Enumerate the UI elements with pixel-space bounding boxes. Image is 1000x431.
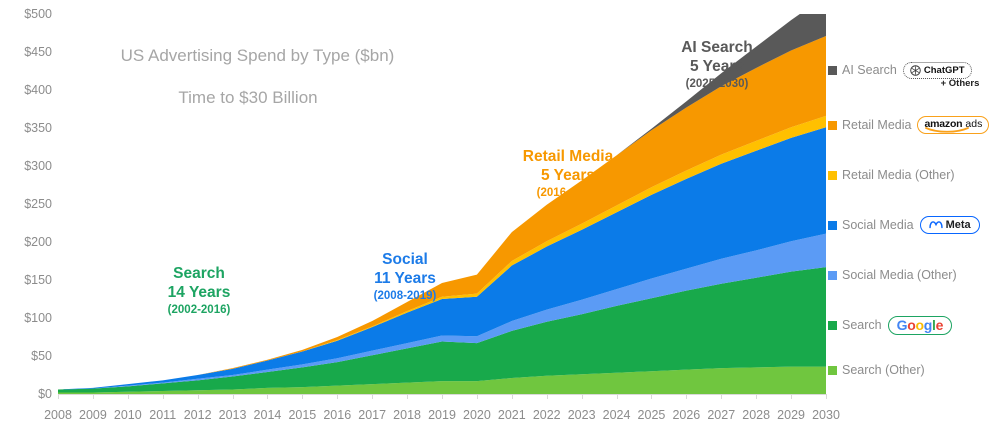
- chatgpt-wordmark: ChatGPT: [924, 65, 965, 76]
- annotation-ai-search-years: 5 Years: [642, 57, 792, 76]
- y-axis-tick: $300: [0, 160, 52, 172]
- x-axis-tick-mark: [93, 394, 94, 399]
- legend-item-social-media[interactable]: Social MediaMeta: [828, 215, 980, 235]
- chart-page: US Advertising Spend by Type ($bn) Time …: [0, 0, 1000, 431]
- y-axis-tick: $0: [0, 388, 52, 400]
- x-axis-tick-mark: [128, 394, 129, 399]
- y-axis-tick: $350: [0, 122, 52, 134]
- legend-item-label: Retail Media: [842, 118, 911, 132]
- y-axis-tick: $100: [0, 312, 52, 324]
- x-axis-tick-mark: [756, 394, 757, 399]
- x-axis-tick-mark: [477, 394, 478, 399]
- x-axis-tick-mark: [407, 394, 408, 399]
- legend-swatch-icon: [828, 271, 837, 280]
- x-axis-tick-mark: [302, 394, 303, 399]
- x-axis-tick-mark: [198, 394, 199, 399]
- annotation-ai-search: AI Search 5 Years (2025-2030): [642, 38, 792, 92]
- x-axis-tick-mark: [826, 394, 827, 399]
- x-axis-tick-mark: [791, 394, 792, 399]
- annotation-social-name: Social: [345, 250, 465, 269]
- x-axis-tick-mark: [617, 394, 618, 399]
- badge-amazon-ads: amazonads: [917, 116, 989, 134]
- x-axis-tick-mark: [442, 394, 443, 399]
- openai-logo-icon: [910, 65, 921, 76]
- y-axis-tick: $200: [0, 236, 52, 248]
- annotation-retail-media-range: (2016-2021): [483, 185, 653, 201]
- annotation-retail-media-name: Retail Media: [483, 147, 653, 166]
- badge-chatgpt: ChatGPT: [903, 62, 972, 79]
- badge-meta: Meta: [920, 216, 980, 234]
- legend-item-social-media-other[interactable]: Social Media (Other): [828, 265, 957, 285]
- legend-swatch-icon: [828, 121, 837, 130]
- meta-infinity-icon: [929, 220, 943, 230]
- annotation-retail-media: Retail Media 5 Years (2016-2021): [483, 147, 653, 201]
- legend-item-retail-media-other[interactable]: Retail Media (Other): [828, 165, 955, 185]
- annotation-search-range: (2002-2016): [132, 302, 266, 318]
- legend-item-label: AI Search: [842, 63, 897, 77]
- y-axis-tick: $500: [0, 8, 52, 20]
- x-axis-tick-mark: [267, 394, 268, 399]
- y-axis-tick: $450: [0, 46, 52, 58]
- x-axis-tick-mark: [372, 394, 373, 399]
- legend-item-search[interactable]: SearchGoogle: [828, 315, 952, 335]
- y-axis-tick: $400: [0, 84, 52, 96]
- legend-item-label: Search: [842, 318, 882, 332]
- legend-swatch-icon: [828, 366, 837, 375]
- x-axis-tick-mark: [651, 394, 652, 399]
- annotation-social: Social 11 Years (2008-2019): [345, 250, 465, 304]
- amazon-wordmark: amazon: [924, 118, 962, 130]
- x-axis-tick-mark: [233, 394, 234, 399]
- x-axis: 2008200920102011201220132014201520162017…: [58, 400, 826, 430]
- legend-item-label: Social Media (Other): [842, 268, 957, 282]
- x-axis-tick-mark: [686, 394, 687, 399]
- legend-swatch-icon: [828, 66, 837, 75]
- annotation-social-range: (2008-2019): [345, 288, 465, 304]
- legend-item-label: Social Media: [842, 218, 914, 232]
- x-axis-tick: 2030: [805, 408, 847, 422]
- legend-item-label: Search (Other): [842, 363, 925, 377]
- annotation-ai-search-range: (2025-2030): [642, 76, 792, 92]
- x-axis-tick-mark: [547, 394, 548, 399]
- annotation-retail-media-years: 5 Years: [483, 166, 653, 185]
- legend-item-ai-search[interactable]: AI SearchChatGPT: [828, 60, 972, 80]
- legend-item-search-other[interactable]: Search (Other): [828, 360, 925, 380]
- legend-item-label: Retail Media (Other): [842, 168, 955, 182]
- badge-google: Google: [888, 316, 952, 335]
- x-axis-tick-mark: [582, 394, 583, 399]
- amazon-smile-icon: [925, 127, 969, 133]
- legend-swatch-icon: [828, 171, 837, 180]
- x-axis-tick-mark: [58, 394, 59, 399]
- x-axis-tick-mark: [721, 394, 722, 399]
- x-axis-tick-mark: [163, 394, 164, 399]
- x-axis-tick-mark: [512, 394, 513, 399]
- legend-chatgpt-others-note: + Others: [920, 78, 1000, 89]
- y-axis-tick: $150: [0, 274, 52, 286]
- y-axis-tick: $50: [0, 350, 52, 362]
- y-axis-tick: $250: [0, 198, 52, 210]
- meta-wordmark: Meta: [946, 219, 971, 231]
- y-axis: $0$50$100$150$200$250$300$350$400$450$50…: [0, 0, 58, 400]
- x-axis-tick-mark: [337, 394, 338, 399]
- annotation-social-years: 11 Years: [345, 269, 465, 288]
- annotation-search-name: Search: [132, 264, 266, 283]
- legend-swatch-icon: [828, 221, 837, 230]
- annotation-ai-search-name: AI Search: [642, 38, 792, 57]
- annotation-search: Search 14 Years (2002-2016): [132, 264, 266, 318]
- annotation-search-years: 14 Years: [132, 283, 266, 302]
- legend-swatch-icon: [828, 321, 837, 330]
- legend-item-retail-media[interactable]: Retail Mediaamazonads: [828, 115, 989, 135]
